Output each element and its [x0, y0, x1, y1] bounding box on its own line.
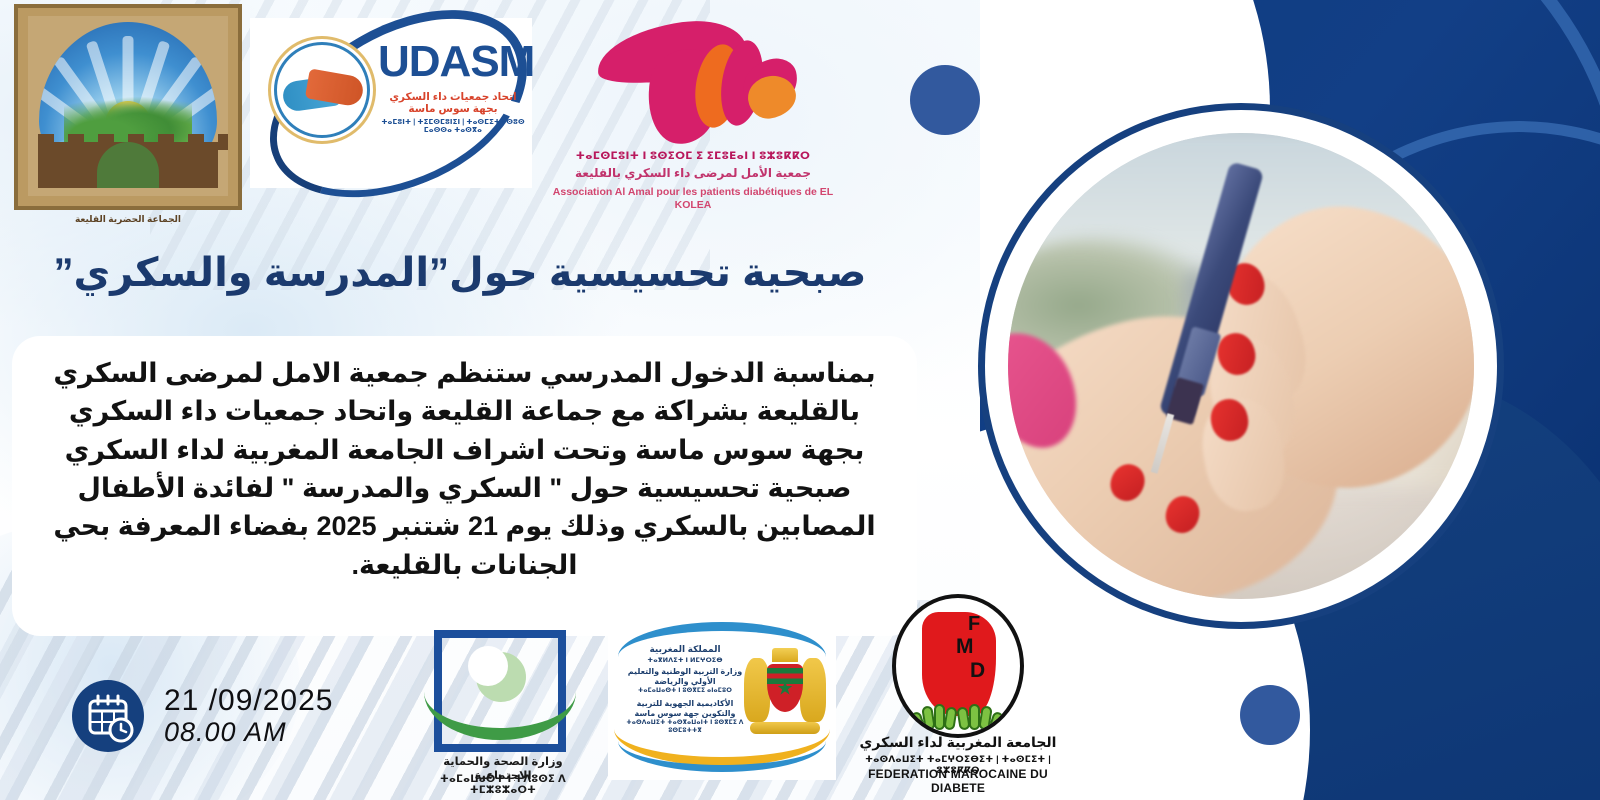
- rampart-merlon: [68, 134, 84, 150]
- udasm-wordmark: UDASM: [378, 40, 528, 84]
- al-amal-french: Association Al Amal pour les patients di…: [548, 186, 838, 212]
- udasm-text-block: UDASM اتحاد جمعيات داء السكري بجهة سوس م…: [378, 40, 528, 134]
- page-title: صبحية تحسيسية حول”المدرسة والسكري”: [20, 248, 900, 298]
- fmd-oval-outline: F M D: [892, 594, 1024, 738]
- rampart-merlon: [218, 134, 228, 150]
- event-time: 08.00 AM: [164, 718, 333, 747]
- health-logo-tifinagh: ⵜⴰⵎⴰⵡⴰⵙⵜ ⵏ ⵜⴷⵓⵙⵉ ⴷ ⵜⵎⵣⵓⵣⴰⵔⵜ: [418, 774, 588, 796]
- commune-logo: الجماعة الحضرية القليعة: [14, 4, 242, 244]
- calendar-clock-icon: [72, 680, 144, 752]
- coat-of-arms-lion-right: [800, 658, 826, 722]
- rampart-merlon: [38, 134, 54, 150]
- decorative-dot-top: [910, 65, 980, 135]
- commune-logo-caption: الجماعة الحضرية القليعة: [14, 214, 242, 225]
- health-crescent-cutout: [468, 646, 508, 686]
- al-amal-arabic: جمعية الأمل لمرضى داء السكري بالقليعة: [548, 166, 838, 180]
- event-datetime: 21 /09/2025 08.00 AM: [72, 680, 333, 752]
- bird-icon: [592, 14, 802, 146]
- fmd-arabic: الجامعة المغربية لداء السكري: [848, 734, 1068, 751]
- al-amal-association-logo: ⵜⴰⵎⵙⵎⵓⵏⵜ ⵏ ⵓⵙⵉⵔⵎ ⵉ ⵉⵎⵓⴹⴰⵏ ⵏ ⵓⵣⵓⴽⴽⵔ جمعية…: [548, 10, 838, 235]
- commune-logo-inner: [28, 16, 228, 196]
- al-amal-tifinagh: ⵜⴰⵎⵙⵎⵓⵏⵜ ⵏ ⵓⵙⵉⵔⵎ ⵉ ⵉⵎⵓⴹⴰⵏ ⵏ ⵓⵣⵓⴽⴽⵔ: [548, 150, 838, 162]
- udasm-logo: UDASM اتحاد جمعيات داء السكري بجهة سوس م…: [250, 18, 532, 188]
- fmd-hand-finger: [943, 706, 957, 730]
- moroccan-coat-of-arms-icon: ★: [744, 644, 826, 740]
- education-academy-arabic: الأكاديمية الجهوية للتربية والتكوين جهة …: [622, 699, 748, 719]
- education-ministry-arabic: وزارة التربية الوطنية والتعليم الأولي وا…: [622, 667, 748, 687]
- ministry-of-education-logo: المملكة المغربية ⵜⴰⴳⵍⴷⵉⵜ ⵏ ⵍⵎⵖⵔⵉⴱ وزارة …: [608, 618, 836, 780]
- rampart-merlon: [158, 134, 174, 150]
- udasm-tifinagh-subtitle: ⵜⴰⵎⵓⵏⵜ | ⵜⵉⵎⵙⵎⵓⵏⵉⵏ | ⵜⴰⵙⵎⵉⵜ | ⵙⵓⵙ ⵎⴰⵙⵙⴰ …: [378, 118, 528, 134]
- announcement-text: بمناسبة الدخول المدرسي ستنظم جمعية الامل…: [42, 354, 887, 584]
- fmd-letter-f: F: [968, 614, 980, 634]
- education-text-block: المملكة المغربية ⵜⴰⴳⵍⴷⵉⵜ ⵏ ⵍⵎⵖⵔⵉⴱ وزارة …: [622, 644, 748, 735]
- fmd-letter-m: M: [956, 636, 974, 657]
- event-date: 21 /09/2025: [164, 685, 333, 717]
- education-kingdom-tifinagh: ⵜⴰⴳⵍⴷⵉⵜ ⵏ ⵍⵎⵖⵔⵉⴱ: [622, 656, 748, 664]
- announcement-card: بمناسبة الدخول المدرسي ستنظم جمعية الامل…: [12, 336, 917, 636]
- udasm-arabic-subtitle: اتحاد جمعيات داء السكري بجهة سوس ماسة: [378, 91, 528, 115]
- education-bottom-band-blue: [618, 741, 826, 772]
- fmd-french: FEDERATION MAROCAINE DU DIABETE: [848, 767, 1068, 795]
- coat-of-arms-crown: [772, 648, 798, 662]
- event-datetime-text: 21 /09/2025 08.00 AM: [164, 685, 333, 747]
- ministry-of-health-logo: وزارة الصحة والحماية الاجتماعية ⵜⴰⵎⴰⵡⴰⵙⵜ…: [418, 628, 588, 800]
- coat-of-arms-shield: ★: [767, 664, 803, 712]
- insulin-injection-photo: [1008, 133, 1474, 599]
- decorative-dot-bottom: [1240, 685, 1300, 745]
- fmd-green-hand-right: [958, 698, 1006, 730]
- udasm-handshake-icon: [274, 42, 370, 138]
- rampart-merlon: [188, 134, 204, 150]
- education-ministry-tifinagh: ⵜⴰⵎⴰⵡⴰⵙⵜ ⵏ ⵓⵙⴳⵎⵉ ⴰⵏⴰⵎⵓⵔ: [622, 688, 748, 696]
- fmd-green-hand-left: [912, 698, 960, 730]
- commune-logo-frame: [14, 4, 242, 210]
- federation-marocaine-du-diabete-logo: F M D الجامعة المغربية لداء السكري ⵜⴰⵙⴷⴰ…: [848, 594, 1068, 764]
- education-kingdom-arabic: المملكة المغربية: [622, 644, 748, 655]
- fmd-letter-d: D: [970, 660, 985, 681]
- coat-of-arms-star: ★: [776, 679, 793, 698]
- top-logo-row: الجماعة الحضرية القليعة UDASM اتحاد جمعي…: [0, 0, 880, 240]
- poster-canvas: الجماعة الحضرية القليعة UDASM اتحاد جمعي…: [0, 0, 1600, 800]
